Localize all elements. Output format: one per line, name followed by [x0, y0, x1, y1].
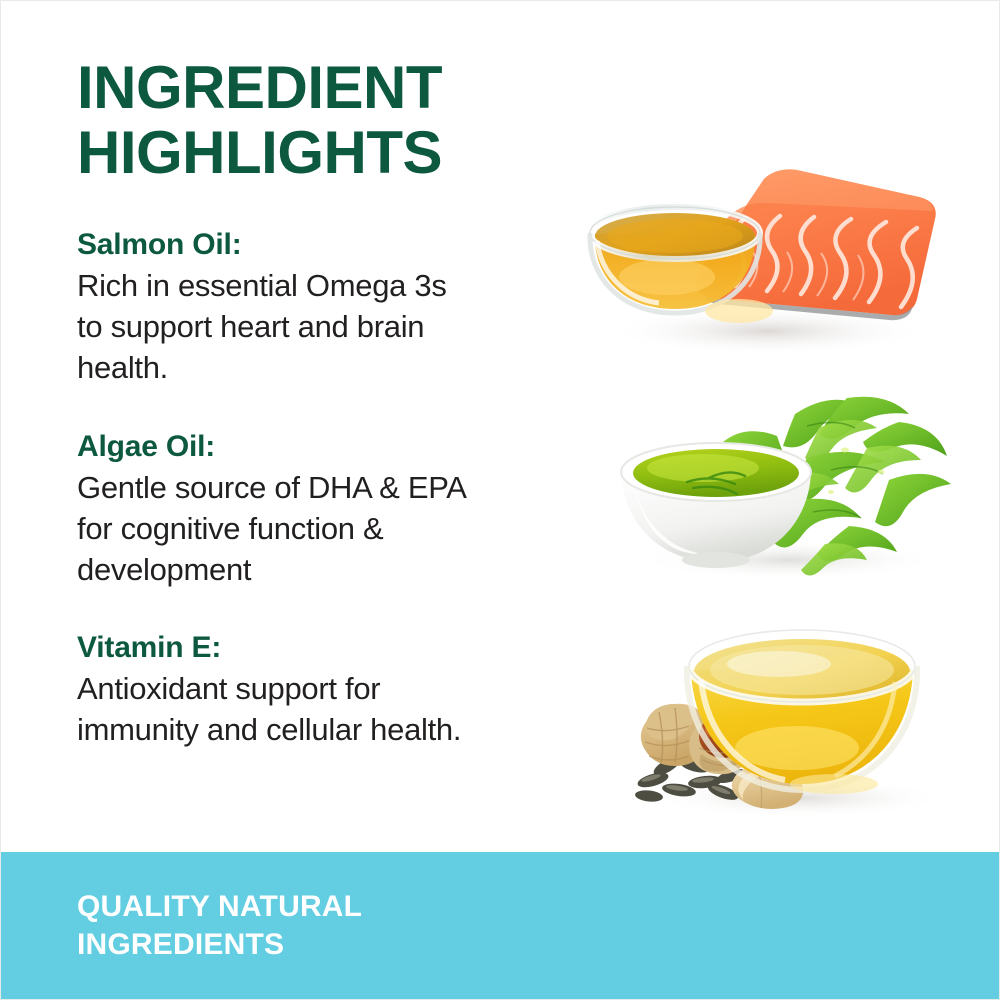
- quality-banner: QUALITY NATURAL INGREDIENTS: [1, 852, 1000, 1000]
- description-line: for cognitive function &: [77, 509, 607, 550]
- vitamin-e-photo: [619, 608, 971, 824]
- page-title-line-2: HIGHLIGHTS: [77, 121, 637, 186]
- ingredient-description-vitamin-e: Antioxidant support for immunity and cel…: [77, 669, 607, 751]
- description-line: Rich in essential Omega 3s: [77, 266, 607, 307]
- ingredient-name-algae-oil: Algae Oil:: [77, 429, 607, 465]
- description-line: health.: [77, 348, 607, 389]
- ingredient-name-vitamin-e: Vitamin E:: [77, 630, 607, 666]
- banner-line-2: INGREDIENTS: [77, 926, 362, 964]
- ingredient-name-salmon-oil: Salmon Oil:: [77, 227, 607, 263]
- ingredient-item-vitamin-e: Vitamin E: Antioxidant support for immun…: [77, 630, 607, 751]
- quality-banner-text: QUALITY NATURAL INGREDIENTS: [77, 888, 362, 965]
- description-line: to support heart and brain: [77, 307, 607, 348]
- page-title: INGREDIENT HIGHLIGHTS: [77, 56, 637, 186]
- ingredient-item-salmon-oil: Salmon Oil: Rich in essential Omega 3s t…: [77, 227, 607, 389]
- description-line: development: [77, 550, 607, 591]
- ingredient-description-salmon-oil: Rich in essential Omega 3s to support he…: [77, 266, 607, 389]
- ingredient-item-algae-oil: Algae Oil: Gentle source of DHA & EPA fo…: [77, 429, 607, 591]
- ingredient-highlights-panel: INGREDIENT HIGHLIGHTS Salmon Oil: Rich i…: [0, 0, 1000, 1000]
- description-line: immunity and cellular health.: [77, 710, 607, 751]
- page-title-line-1: INGREDIENT: [77, 56, 637, 121]
- algae-oil-photo: [599, 384, 971, 588]
- banner-line-1: QUALITY NATURAL: [77, 888, 362, 926]
- ingredient-description-algae-oil: Gentle source of DHA & EPA for cognitive…: [77, 468, 607, 591]
- salmon-oil-photo: [567, 159, 975, 363]
- description-line: Antioxidant support for: [77, 669, 607, 710]
- description-line: Gentle source of DHA & EPA: [77, 468, 607, 509]
